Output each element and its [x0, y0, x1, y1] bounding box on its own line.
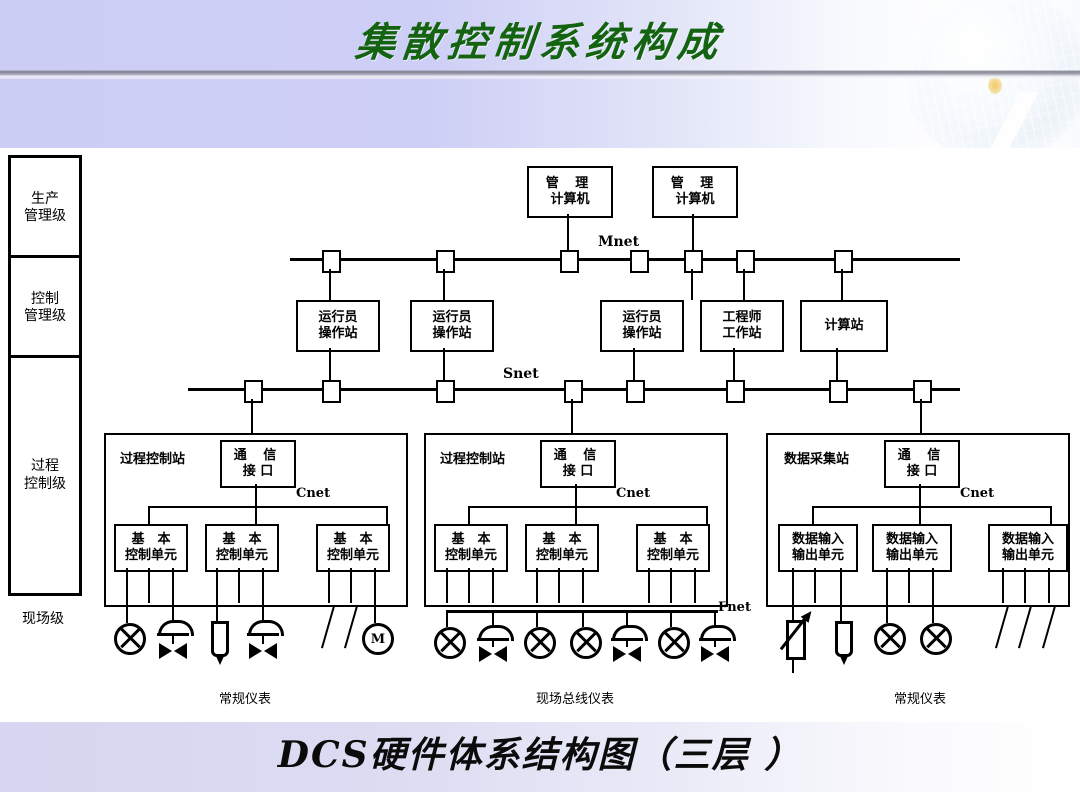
box-line-2: 控制单元 [327, 548, 379, 564]
box-line-1: 基 本 [542, 532, 581, 548]
valve-left-triangle [159, 643, 172, 659]
mnet-connector-7[interactable] [834, 250, 853, 273]
cross-circle-sensor-icon [874, 623, 906, 655]
level-line-2: 管理级 [24, 308, 66, 325]
io-stem [1048, 568, 1050, 603]
slide-header: 集散控制系统构成 [0, 0, 1080, 148]
globe-stand-graphic [958, 92, 1078, 148]
box-line-2: 输出单元 [792, 548, 844, 564]
cnet-bus-1 [148, 506, 388, 508]
level-line-1: 生产 [24, 191, 66, 208]
io-stem [932, 568, 934, 603]
mnet-label: Mnet [598, 234, 639, 250]
station-title-1: 过程控制站 [120, 448, 185, 467]
snet-connector-2[interactable] [322, 380, 341, 403]
box-line-2: 计算机 [675, 192, 714, 208]
operator-station-box-1: 运行员 操作站 [296, 300, 380, 352]
box-line-2: 操作站 [622, 326, 661, 342]
io-stem [350, 568, 352, 603]
snet-connector-4[interactable] [564, 380, 583, 403]
fnet-label: Fnet [718, 600, 751, 615]
link-mnet-to-op1 [329, 269, 331, 300]
cnet-label-3: Cnet [960, 486, 994, 501]
box-line-1: 通 信 [898, 448, 947, 464]
figure-caption: DCS硬件体系结构图（三层 ） [0, 726, 1080, 778]
mnet-bus [290, 258, 960, 261]
box-line-1: 运行员 [432, 310, 471, 326]
management-computer-box-1: 管 理 计算机 [527, 166, 613, 218]
cnet-stem-3 [919, 484, 921, 506]
box-line-2: 控制单元 [216, 548, 268, 564]
globe-highlight [988, 77, 1002, 94]
box-line-2: 操作站 [432, 326, 471, 342]
box-line-1: 管 理 [546, 176, 595, 192]
mnet-connector-5[interactable] [684, 250, 703, 273]
device-lead [932, 603, 934, 623]
box-line-2: 操作站 [318, 326, 357, 342]
io-stem [446, 568, 448, 603]
instrument-group-label-1: 常规仪表 [165, 688, 325, 707]
comm-interface-box-1: 通 信 接 口 [220, 440, 296, 488]
cnet-bus-2 [468, 506, 708, 508]
device-lead [126, 603, 128, 623]
io-stem [814, 568, 816, 603]
box-line-1: 工程师 [722, 310, 761, 326]
break-line-icon [344, 606, 358, 649]
io-stem [536, 568, 538, 603]
instrument-group-label-2: 现场总线仪表 [485, 688, 665, 707]
io-stem [694, 568, 696, 603]
level-box-production-management: 生产 管理级 [8, 155, 82, 261]
box-line-1: 基 本 [333, 532, 372, 548]
cnet-drop-3b [919, 506, 921, 524]
level-line-1: 过程 [24, 458, 66, 475]
cnet-drop-1b [255, 506, 257, 524]
cross-circle-sensor-icon [114, 623, 146, 655]
valve-body-icon [613, 646, 641, 663]
link-op2-to-snet [443, 348, 445, 383]
box-line-2: 控制单元 [536, 548, 588, 564]
io-stem [328, 568, 330, 603]
snet-label: Snet [503, 366, 539, 382]
io-stem [148, 568, 150, 603]
link-snet-to-station3 [920, 399, 922, 435]
device-lead [216, 603, 218, 621]
link-mnet-to-op2 [443, 269, 445, 300]
box-line-1: 基 本 [451, 532, 490, 548]
device-lead [626, 613, 628, 625]
valve-left-triangle [479, 646, 492, 662]
break-line-icon [321, 606, 335, 649]
io-stem [1002, 568, 1004, 603]
comm-interface-box-3: 通 信 接 口 [884, 440, 960, 488]
snet-connector-8[interactable] [913, 380, 932, 403]
valve-left-triangle [701, 646, 714, 662]
box-line-2: 工作站 [722, 326, 761, 342]
link-eng-to-snet [733, 348, 735, 383]
cnet-drop-3a [812, 506, 814, 524]
basic-control-unit-2a: 基 本 控制单元 [434, 524, 508, 572]
basic-control-unit-1c: 基 本 控制单元 [316, 524, 390, 572]
cnet-drop-2b [575, 506, 577, 524]
valve-right-triangle [494, 646, 507, 662]
cnet-drop-3c [1050, 506, 1052, 524]
box-line-1: 基 本 [653, 532, 692, 548]
page-title: 集散控制系统构成 [0, 10, 1080, 68]
thermowell-probe-icon [211, 621, 229, 657]
cnet-bus-3 [812, 506, 1052, 508]
io-stem [840, 568, 842, 603]
valve-right-triangle [628, 646, 641, 662]
motor-icon: M [362, 623, 394, 655]
management-computer-box-2: 管 理 计算机 [652, 166, 738, 218]
basic-control-unit-2b: 基 本 控制单元 [525, 524, 599, 572]
operator-station-box-2: 运行员 操作站 [410, 300, 494, 352]
device-lead [714, 613, 716, 625]
box-line-1: 基 本 [222, 532, 261, 548]
io-stem [126, 568, 128, 603]
basic-control-unit-1a: 基 本 控制单元 [114, 524, 188, 572]
link-mnet-to-eng [743, 269, 745, 300]
device-lead [446, 613, 448, 627]
cnet-drop-1c [386, 506, 388, 524]
link-mgmt2-to-mnet [692, 214, 694, 253]
box-line-1: 管 理 [671, 176, 720, 192]
cross-circle-sensor-icon [434, 627, 466, 659]
valve-body-icon [159, 643, 187, 660]
cnet-stem-1 [255, 484, 257, 506]
valve-body-icon [479, 646, 507, 663]
snet-connector-1[interactable] [244, 380, 263, 403]
cnet-drop-1a [148, 506, 150, 524]
link-snet-to-station2 [571, 399, 573, 435]
field-level-label: 现场级 [6, 608, 80, 628]
box-line-1: 通 信 [554, 448, 603, 464]
data-io-unit-b: 数据输入 输出单元 [872, 524, 952, 572]
box-line-2: 接 口 [243, 464, 274, 480]
valve-body-icon [701, 646, 729, 663]
io-stem [648, 568, 650, 603]
snet-connector-7[interactable] [829, 380, 848, 403]
device-lead [582, 613, 584, 627]
cnet-label-1: Cnet [296, 486, 330, 501]
level-box-control-management: 控制 管理级 [8, 255, 82, 361]
link-mnet-to-op3 [691, 269, 693, 300]
cnet-drop-2c [706, 506, 708, 524]
box-line-1: 运行员 [622, 310, 661, 326]
box-line-1: 数据输入 [886, 532, 938, 548]
box-line-2: 输出单元 [886, 548, 938, 564]
engineer-workstation-box: 工程师 工作站 [700, 300, 784, 352]
snet-connector-6[interactable] [726, 380, 745, 403]
break-line-icon [1018, 606, 1032, 649]
comm-interface-box-2: 通 信 接 口 [540, 440, 616, 488]
break-line-icon [995, 606, 1009, 649]
io-stem [468, 568, 470, 603]
device-lead [886, 603, 888, 623]
instrument-group-label-3: 常规仪表 [840, 688, 1000, 707]
probe-tip [215, 654, 225, 665]
box-line-2: 控制单元 [647, 548, 699, 564]
level-line-2: 控制级 [24, 476, 66, 493]
mnet-connector-6[interactable] [736, 250, 755, 273]
basic-control-unit-1b: 基 本 控制单元 [205, 524, 279, 572]
device-lead [492, 613, 494, 625]
thermowell-probe-icon [835, 621, 853, 657]
box-line-2: 控制单元 [125, 548, 177, 564]
link-mnet-to-calc [841, 269, 843, 300]
box-line-1: 数据输入 [792, 532, 844, 548]
box-line-1: 基 本 [131, 532, 170, 548]
cross-circle-sensor-icon [658, 627, 690, 659]
device-lead [374, 603, 376, 623]
snet-connector-3[interactable] [436, 380, 455, 403]
mnet-connector-1[interactable] [322, 250, 341, 273]
mnet-connector-2[interactable] [436, 250, 455, 273]
box-line-2: 计算机 [550, 192, 589, 208]
computing-station-box: 计算站 [800, 300, 888, 352]
valve-left-triangle [249, 643, 262, 659]
cross-circle-sensor-icon [524, 627, 556, 659]
box-line-1: 数据输入 [1002, 532, 1054, 548]
mnet-connector-3[interactable] [560, 250, 579, 273]
link-op3-to-snet [633, 348, 635, 383]
device-lead [536, 613, 538, 627]
io-stem [374, 568, 376, 603]
io-stem [582, 568, 584, 603]
io-stem [886, 568, 888, 603]
link-calc-to-snet [836, 348, 838, 383]
device-lead [840, 603, 842, 621]
operator-station-box-3: 运行员 操作站 [600, 300, 684, 352]
cross-circle-sensor-icon [920, 623, 952, 655]
box-line-2: 控制单元 [445, 548, 497, 564]
cnet-stem-2 [575, 484, 577, 506]
level-line-2: 管理级 [24, 208, 66, 225]
station-title-3: 数据采集站 [784, 448, 849, 467]
data-io-unit-a: 数据输入 输出单元 [778, 524, 858, 572]
break-line-icon [1042, 606, 1056, 649]
box-line-2: 输出单元 [1002, 548, 1054, 564]
link-snet-to-station1 [251, 399, 253, 435]
mnet-connector-4[interactable] [630, 250, 649, 273]
box-line-1: 通 信 [234, 448, 283, 464]
box-line-1: 运行员 [318, 310, 357, 326]
basic-control-unit-2c: 基 本 控制单元 [636, 524, 710, 572]
cross-circle-sensor-icon [570, 627, 602, 659]
box-line-1: 计算站 [824, 318, 863, 334]
io-stem [492, 568, 494, 603]
valve-left-triangle [613, 646, 626, 662]
io-stem [670, 568, 672, 603]
io-stem [908, 568, 910, 603]
link-mgmt1-to-mnet [567, 214, 569, 253]
io-stem [238, 568, 240, 603]
valve-right-triangle [174, 643, 187, 659]
probe-tip [839, 654, 849, 665]
level-box-process-control: 过程 控制级 [8, 355, 82, 596]
data-io-unit-c: 数据输入 输出单元 [988, 524, 1068, 572]
station-title-2: 过程控制站 [440, 448, 505, 467]
io-stem [558, 568, 560, 603]
io-stem [1024, 568, 1026, 603]
link-op1-to-snet [329, 348, 331, 383]
io-stem [792, 568, 794, 603]
header-divider [0, 70, 1080, 79]
valve-right-triangle [716, 646, 729, 662]
device-lead [670, 613, 672, 627]
valve-body-icon [249, 643, 277, 660]
cnet-drop-2a [468, 506, 470, 524]
level-line-1: 控制 [24, 291, 66, 308]
snet-connector-5[interactable] [626, 380, 645, 403]
valve-right-triangle [264, 643, 277, 659]
io-stem [216, 568, 218, 603]
io-stem [172, 568, 174, 603]
io-stem [262, 568, 264, 603]
cnet-label-2: Cnet [616, 486, 650, 501]
box-line-2: 接 口 [563, 464, 594, 480]
dcs-diagram: 生产 管理级 控制 管理级 过程 控制级 现场级 管 理 计算机 管 理 计算机… [0, 148, 1080, 722]
box-line-2: 接 口 [907, 464, 938, 480]
